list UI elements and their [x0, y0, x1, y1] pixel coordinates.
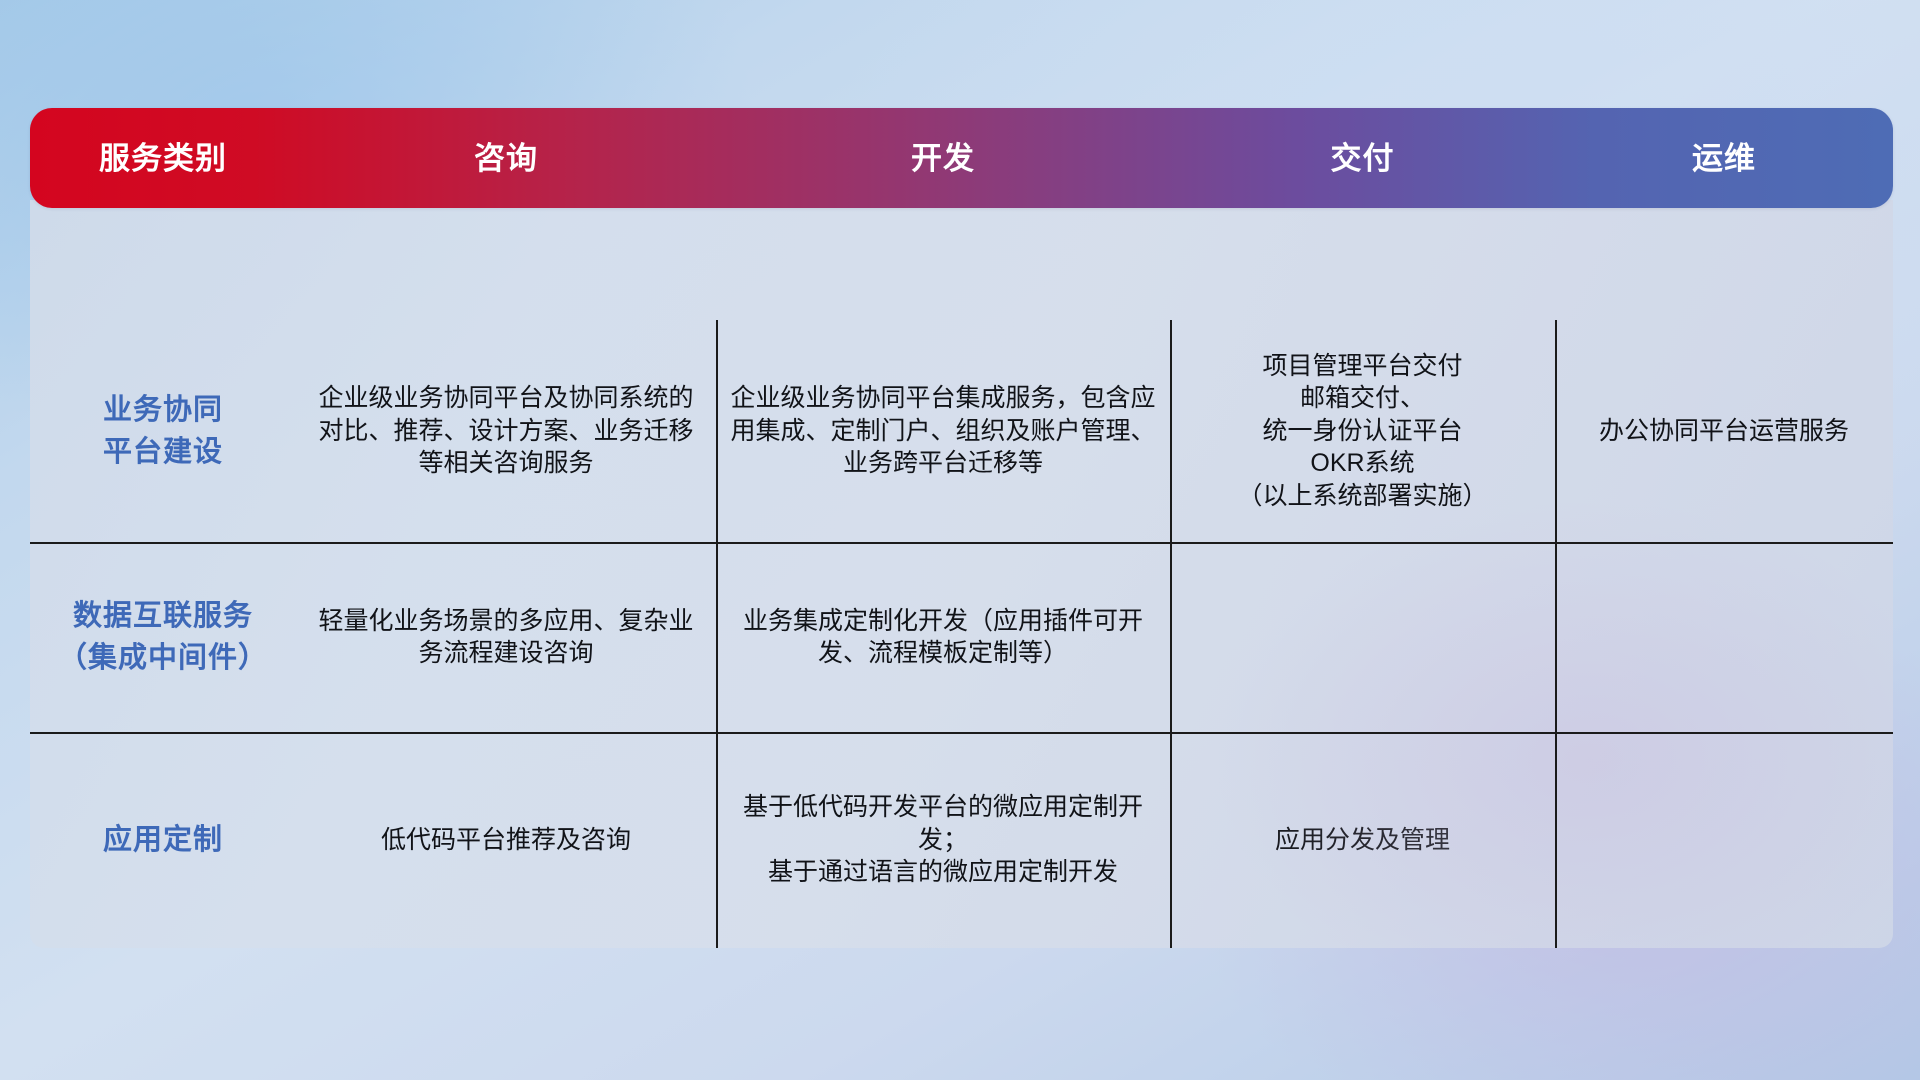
table-row: 业务协同 平台建设 企业级业务协同平台及协同系统的对比、推荐、设计方案、业务迁移…: [30, 320, 1893, 542]
cell-operations: [1555, 732, 1893, 948]
cell-delivery: 应用分发及管理: [1170, 732, 1555, 948]
cell-operations: 办公协同平台运营服务: [1555, 320, 1893, 542]
column-header-operations: 运维: [1555, 143, 1893, 174]
column-divider-2: [1170, 320, 1172, 948]
column-divider-3: [1555, 320, 1557, 948]
service-category-table: 服务类别 咨询 开发 交付 运维 业务协同 平台建设 企业级业务协同平台及协同系…: [30, 108, 1893, 948]
cell-category: 业务协同 平台建设: [30, 320, 296, 542]
cell-development: 基于低代码开发平台的微应用定制开发； 基于通过语言的微应用定制开发: [716, 732, 1170, 948]
cell-consulting: 企业级业务协同平台及协同系统的对比、推荐、设计方案、业务迁移等相关咨询服务: [296, 320, 716, 542]
table-row: 应用定制 低代码平台推荐及咨询 基于低代码开发平台的微应用定制开发； 基于通过语…: [30, 732, 1893, 948]
cell-consulting: 轻量化业务场景的多应用、复杂业务流程建设咨询: [296, 542, 716, 732]
row-divider-1: [30, 542, 1893, 544]
table-header-row: 服务类别 咨询 开发 交付 运维: [30, 108, 1893, 208]
cell-operations: [1555, 542, 1893, 732]
cell-category: 应用定制: [30, 732, 296, 948]
cell-development: 业务集成定制化开发（应用插件可开发、流程模板定制等）: [716, 542, 1170, 732]
column-header-category: 服务类别: [30, 143, 296, 174]
column-divider-1: [716, 320, 718, 948]
cell-delivery: 项目管理平台交付 邮箱交付、 统一身份认证平台 OKR系统 （以上系统部署实施）: [1170, 320, 1555, 542]
table-body: 业务协同 平台建设 企业级业务协同平台及协同系统的对比、推荐、设计方案、业务迁移…: [30, 200, 1893, 948]
cell-development: 企业级业务协同平台集成服务，包含应用集成、定制门户、组织及账户管理、业务跨平台迁…: [716, 320, 1170, 542]
cell-consulting: 低代码平台推荐及咨询: [296, 732, 716, 948]
cell-delivery: [1170, 542, 1555, 732]
table-row: 数据互联服务 （集成中间件） 轻量化业务场景的多应用、复杂业务流程建设咨询 业务…: [30, 542, 1893, 732]
column-header-development: 开发: [716, 143, 1170, 174]
cell-category: 数据互联服务 （集成中间件）: [30, 542, 296, 732]
column-header-consulting: 咨询: [296, 143, 716, 174]
row-divider-2: [30, 732, 1893, 734]
column-header-delivery: 交付: [1170, 143, 1555, 174]
